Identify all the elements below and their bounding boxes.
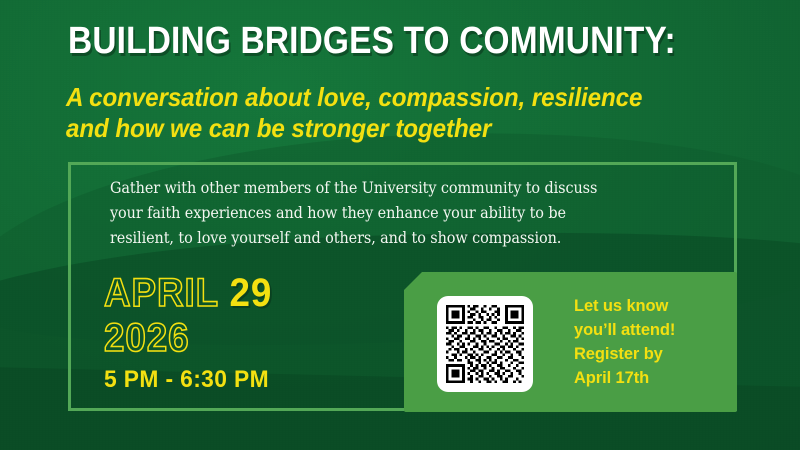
description-line-3: resilient, to love yourself and others, … xyxy=(110,226,668,251)
qr-code-icon xyxy=(446,305,524,383)
event-date-block: APRIL 29 2026 5 PM - 6:30 PM xyxy=(104,272,287,393)
page-subtitle: A conversation about love, compassion, r… xyxy=(66,82,717,144)
description-text: Gather with other members of the Univers… xyxy=(110,176,668,251)
qr-code[interactable] xyxy=(437,296,533,392)
description-line-2: your faith experiences and how they enha… xyxy=(110,201,668,226)
event-month: APRIL xyxy=(104,271,229,315)
event-date-line: APRIL 29 xyxy=(104,272,272,314)
event-year: 2026 xyxy=(104,316,272,360)
event-day: 29 xyxy=(229,271,272,315)
subtitle-line-1: A conversation about love, compassion, r… xyxy=(66,82,717,113)
register-line-3: Register by xyxy=(574,342,675,366)
register-line-1: Let us know xyxy=(574,294,675,318)
event-poster: BUILDING BRIDGES TO COMMUNITY: A convers… xyxy=(0,0,800,450)
description-line-1: Gather with other members of the Univers… xyxy=(110,176,668,201)
event-time: 5 PM - 6:30 PM xyxy=(104,366,278,393)
subtitle-line-2: and how we can be stronger together xyxy=(66,113,717,144)
registration-instructions: Let us know you’ll attend! Register by A… xyxy=(574,294,675,390)
register-line-2: you’ll attend! xyxy=(574,318,675,342)
page-title: BUILDING BRIDGES TO COMMUNITY: xyxy=(68,20,684,62)
register-line-4: April 17th xyxy=(574,366,675,390)
